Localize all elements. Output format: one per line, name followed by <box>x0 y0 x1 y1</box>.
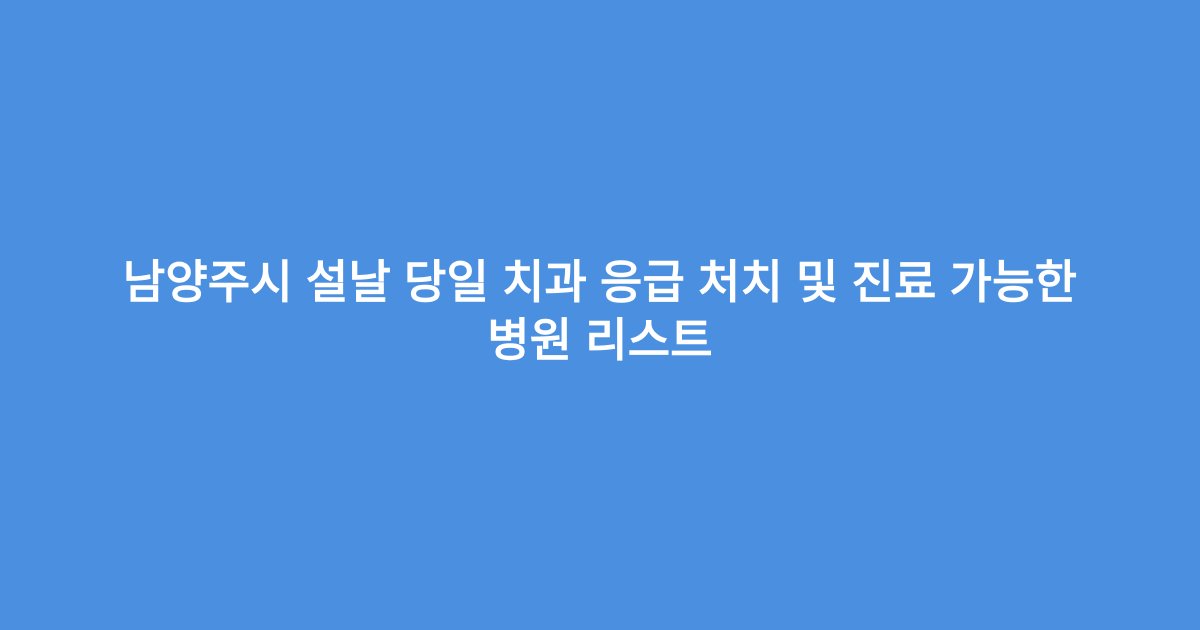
og-banner-card: 남양주시 설날 당일 치과 응급 처치 및 진료 가능한 병원 리스트 <box>0 0 1200 630</box>
title-line-2: 병원 리스트 <box>60 311 1140 369</box>
title-line-1: 남양주시 설날 당일 치과 응급 처치 및 진료 가능한 <box>60 253 1140 311</box>
page-title: 남양주시 설날 당일 치과 응급 처치 및 진료 가능한 병원 리스트 <box>60 253 1140 369</box>
title-block: 남양주시 설날 당일 치과 응급 처치 및 진료 가능한 병원 리스트 <box>50 253 1150 369</box>
